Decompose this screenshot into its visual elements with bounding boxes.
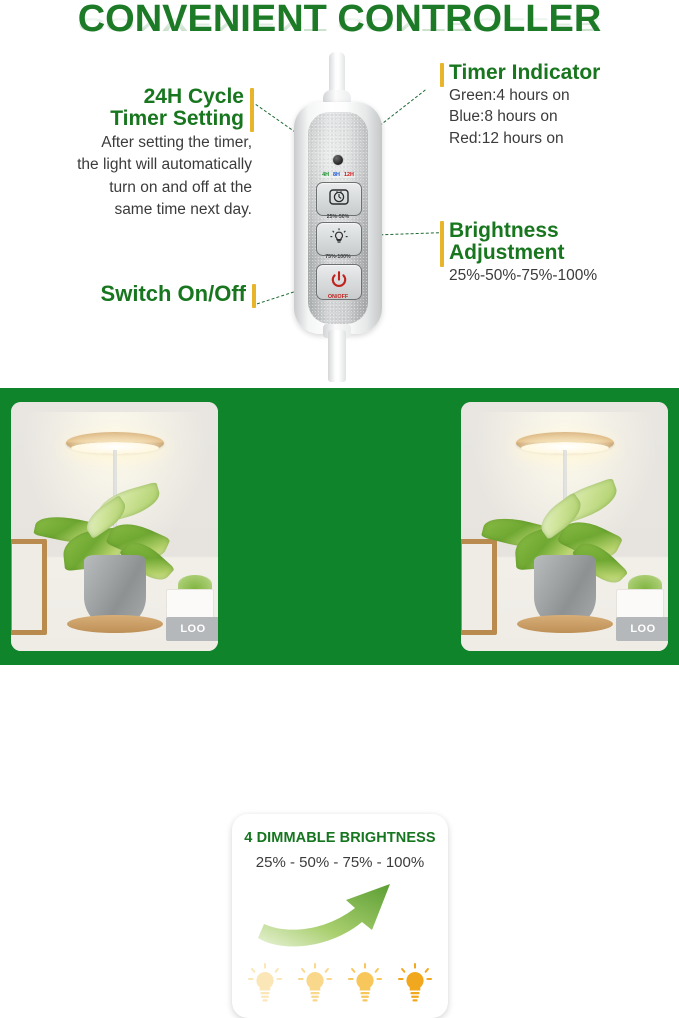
callout-timer-indicator-body-line3: Red:12 hours on: [440, 130, 670, 148]
brightness-label-bottom: 75%-100%: [312, 255, 364, 260]
cable-bottom: [328, 330, 346, 382]
scene-right: LOO: [461, 402, 668, 651]
page-title-area: CONVENIENT CONTROLLER CONVENIENT CONTROL…: [0, 0, 679, 52]
shelf-box-label-right: LOO: [616, 617, 668, 641]
accent-bar-timer-setting: [250, 88, 254, 132]
bulb-icon-50: [298, 963, 332, 1005]
bulb-icon-25: [248, 963, 282, 1005]
lamp-base-right: [517, 615, 613, 633]
scene-left: LOO: [11, 402, 218, 651]
callout-switch-onoff: Switch On/Off: [60, 282, 256, 305]
timer-label-4h: 4H: [321, 173, 330, 178]
callout-timer-indicator: Timer Indicator Green:4 hours on Blue:8 …: [440, 62, 670, 148]
upward-trend-arrow-icon: [254, 878, 426, 952]
callout-brightness-heading-line2: Adjustment: [440, 242, 670, 264]
timer-label-8h: 8H: [332, 173, 341, 178]
callout-timer-setting-body-line1: After setting the timer,: [22, 134, 254, 152]
callout-brightness-adjustment: Brightness Adjustment 25%-50%-75%-100%: [440, 220, 670, 285]
callout-timer-setting-heading-line2: Timer Setting: [22, 108, 254, 130]
photo-plant-left: LOO: [11, 402, 218, 651]
infographic-page: CONVENIENT CONTROLLER CONVENIENT CONTROL…: [0, 0, 679, 665]
timer-button[interactable]: [316, 182, 362, 216]
shelf-box-label-left: LOO: [166, 617, 218, 641]
accent-bar-brightness: [440, 221, 444, 267]
callout-timer-indicator-body-line2: Blue:8 hours on: [440, 108, 670, 126]
callout-timer-setting-body-line3: turn on and off at the: [22, 179, 254, 197]
timer-button-legend: 4H 8H 12H: [312, 173, 364, 178]
brightness-button[interactable]: [316, 222, 362, 256]
page-title: CONVENIENT CONTROLLER: [0, 0, 679, 41]
dimmable-brightness-card: 4 DIMMABLE BRIGHTNESS 25% - 50% - 75% - …: [232, 814, 448, 1018]
power-icon: [317, 270, 361, 294]
lamp-base-left: [67, 615, 163, 633]
callout-brightness-body-line1: 25%-50%-75%-100%: [440, 267, 670, 285]
photo-plant-right: LOO: [461, 402, 668, 651]
callout-timer-setting-body-line2: the light will automatically: [22, 156, 254, 174]
status-led-indicator: [333, 155, 343, 165]
callout-timer-setting: 24H Cycle Timer Setting After setting th…: [22, 86, 254, 219]
callout-timer-setting-heading-line1: 24H Cycle: [22, 86, 254, 108]
brightness-label-top: 25%-50%: [312, 215, 364, 220]
bulb-icon-100: [398, 963, 432, 1005]
accent-bar-timer-indicator: [440, 63, 444, 87]
card-subtitle: 25% - 50% - 75% - 100%: [232, 854, 448, 871]
callout-brightness-heading-line1: Brightness: [440, 220, 670, 242]
picture-frame-left: [11, 539, 47, 635]
brightness-bulb-icon: [317, 227, 361, 251]
controller-device: 4H 8H 12H 25%-50%: [282, 52, 400, 382]
picture-frame-right: [461, 539, 497, 635]
bottom-green-panel: LOO 4 DIMMABLE BRIGHTNESS 25% - 50% - 75…: [0, 388, 679, 665]
bulb-icon-75: [348, 963, 382, 1005]
callout-timer-setting-body-line4: same time next day.: [22, 201, 254, 219]
card-title: 4 DIMMABLE BRIGHTNESS: [232, 830, 448, 846]
callout-timer-indicator-heading: Timer Indicator: [440, 62, 670, 84]
timer-clock-icon: [317, 187, 361, 211]
power-button-label: ON/OFF: [312, 295, 364, 300]
timer-label-12h: 12H: [343, 173, 355, 178]
brightness-bulb-row: [240, 956, 440, 1012]
callout-switch-heading: Switch On/Off: [60, 282, 256, 305]
callout-timer-indicator-body-line1: Green:4 hours on: [440, 87, 670, 105]
accent-bar-switch: [252, 284, 256, 308]
